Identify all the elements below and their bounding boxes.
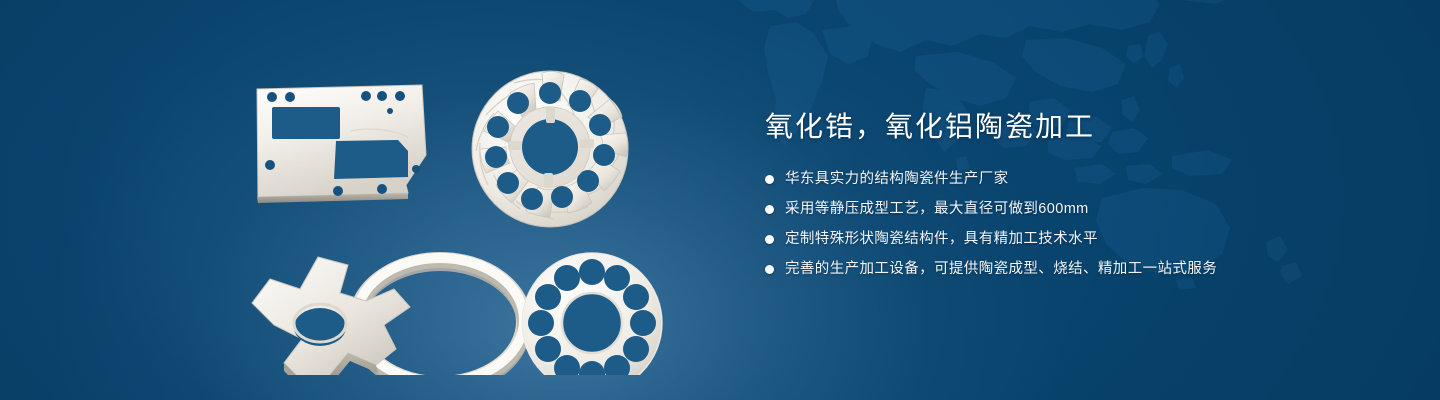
list-item: 定制特殊形状陶瓷结构件，具有精加工技术水平 [765,228,1385,250]
feature-list: 华东具实力的结构陶瓷件生产厂家 采用等静压成型工艺，最大直径可做到600mm 定… [765,168,1385,280]
list-item-label: 定制特殊形状陶瓷结构件，具有精加工技术水平 [785,228,1098,250]
list-item: 完善的生产加工设备，可提供陶瓷成型、烧结、精加工一站式服务 [765,258,1385,280]
bullet-dot-icon [765,205,774,214]
ceramic-machined-plate [257,85,426,203]
ceramic-impeller-disc [472,71,628,227]
hero-banner: 氧化锆，氧化铝陶瓷加工 华东具实力的结构陶瓷件生产厂家 采用等静压成型工艺，最大… [0,0,1440,400]
bullet-dot-icon [765,235,774,244]
list-item-label: 完善的生产加工设备，可提供陶瓷成型、烧结、精加工一站式服务 [785,258,1217,280]
list-item: 华东具实力的结构陶瓷件生产厂家 [765,168,1385,190]
banner-text-column: 氧化锆，氧化铝陶瓷加工 华东具实力的结构陶瓷件生产厂家 采用等静压成型工艺，最大… [765,108,1385,280]
bullet-dot-icon [765,265,774,274]
list-item: 采用等静压成型工艺，最大直径可做到600mm [765,198,1385,220]
list-item-label: 采用等静压成型工艺，最大直径可做到600mm [785,198,1089,220]
bullet-dot-icon [765,175,774,184]
ceramic-parts-photo [230,45,700,375]
ceramic-perforated-disc [522,253,662,375]
page-title: 氧化锆，氧化铝陶瓷加工 [765,108,1385,146]
list-item-label: 华东具实力的结构陶瓷件生产厂家 [785,168,1009,190]
